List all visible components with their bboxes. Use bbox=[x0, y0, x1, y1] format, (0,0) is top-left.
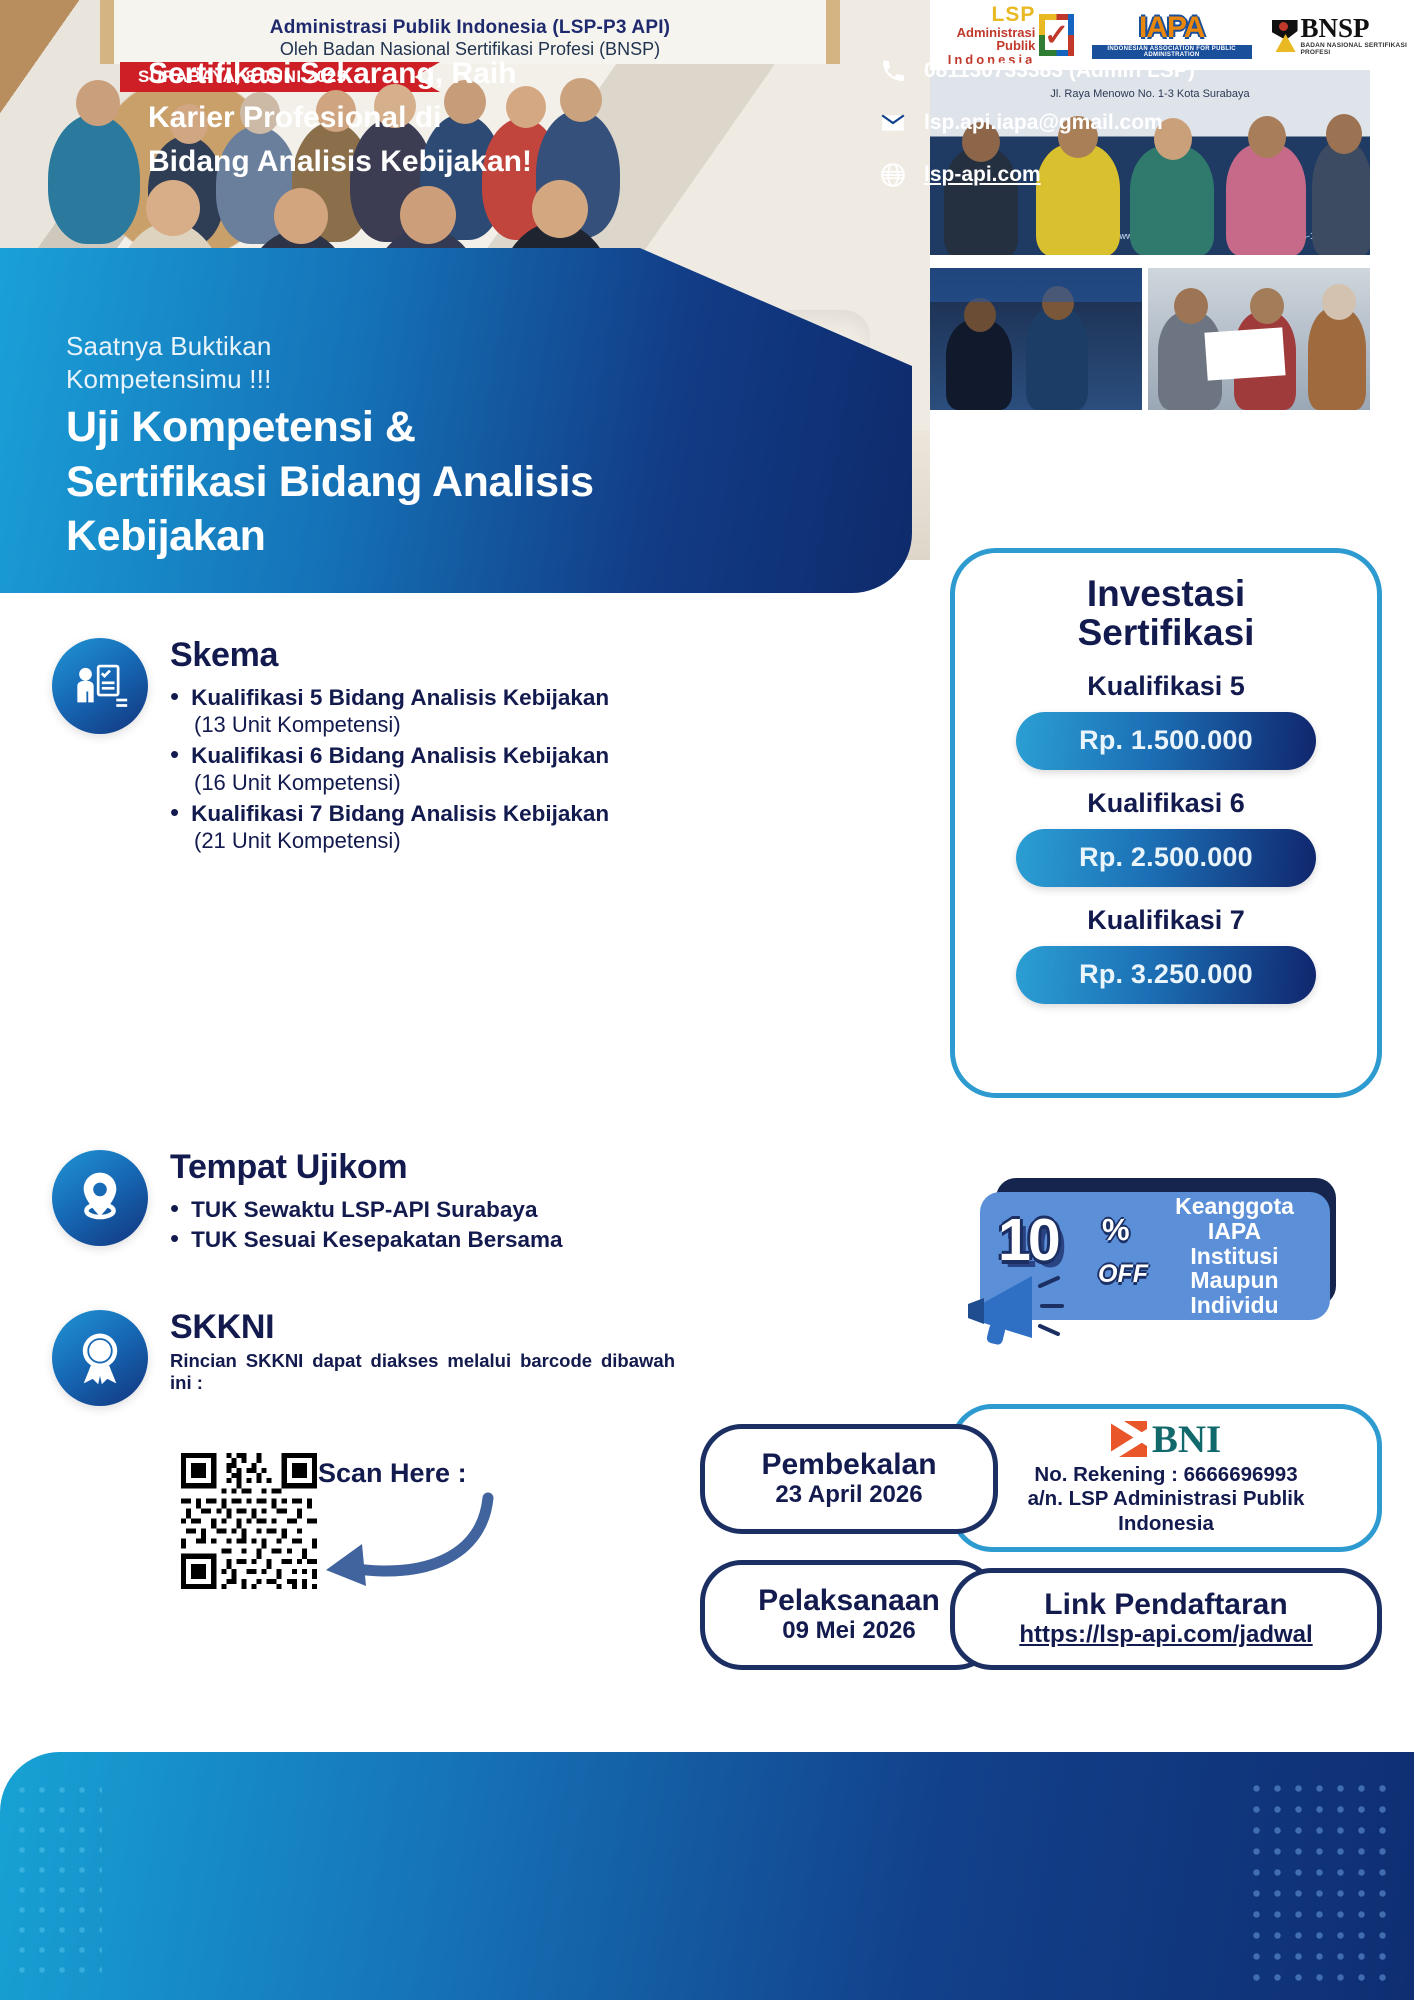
list-item: TUK Sewaktu LSP-API Surabaya bbox=[170, 1196, 563, 1223]
lsp-logo-line2: Administrasi Publik bbox=[936, 26, 1035, 53]
contact-email-row[interactable]: lsp.api.iapa@gmail.com bbox=[880, 110, 1195, 136]
list-item: Kualifikasi 7 Bidang Analisis Kebijakan … bbox=[170, 800, 609, 855]
investasi-card: Investasi Sertifikasi Kualifikasi 5 Rp. … bbox=[950, 548, 1382, 1098]
discount-description: Keanggota IAPA Institusi Maupun Individu bbox=[1152, 1194, 1317, 1317]
bnsp-logo-word: BNSP bbox=[1300, 15, 1414, 42]
list-item: Kualifikasi 6 Bidang Analisis Kebijakan … bbox=[170, 742, 609, 797]
contact-website-row[interactable]: lsp-api.com bbox=[880, 162, 1195, 188]
skema-item-sub: (13 Unit Kompetensi) bbox=[194, 711, 609, 739]
tempat-list: TUK Sewaktu LSP-API Surabaya TUK Sesuai … bbox=[170, 1196, 563, 1254]
investasi-title: Investasi Sertifikasi bbox=[955, 575, 1377, 653]
skema-item-title: Kualifikasi 6 Bidang Analisis Kebijakan bbox=[191, 742, 609, 769]
phone-icon bbox=[880, 58, 906, 84]
section-skkni-heading: SKKNI bbox=[170, 1310, 675, 1346]
investasi-tier-price: Rp. 3.250.000 bbox=[1016, 946, 1316, 1004]
banner-line-1: Administrasi Publik Indonesia (LSP-P3 AP… bbox=[270, 17, 670, 39]
megaphone-icon bbox=[962, 1268, 1072, 1346]
discount-off-label: OFF bbox=[1098, 1260, 1148, 1289]
list-item: TUK Sesuai Kesepakatan Bersama bbox=[170, 1226, 563, 1253]
collage-photo-bottom-right bbox=[1148, 268, 1370, 410]
collage-photo-bottom-left bbox=[930, 268, 1142, 410]
check-icon bbox=[1039, 14, 1073, 56]
skkni-note: Rincian SKKNI dapat diakses melalui barc… bbox=[170, 1350, 675, 1394]
registration-url[interactable]: https://lsp-api.com/jadwal bbox=[1019, 1621, 1312, 1650]
poster-root: Administrasi Publik Indonesia (LSP-P3 AP… bbox=[0, 0, 1414, 2000]
investasi-tier-label: Kualifikasi 6 bbox=[955, 788, 1377, 819]
pelaksanaan-date: 09 Mei 2026 bbox=[782, 1617, 915, 1646]
bank-account-name-1: a/n. LSP Administrasi Publik bbox=[1028, 1487, 1305, 1512]
dot-pattern-right bbox=[1246, 1778, 1396, 1988]
contact-phone-row[interactable]: 081130733383 (Admin LSP) bbox=[880, 58, 1195, 84]
mail-icon bbox=[880, 110, 906, 136]
assessor-checklist-icon bbox=[52, 638, 148, 734]
skema-item-title: Kualifikasi 7 Bidang Analisis Kebijakan bbox=[191, 800, 609, 827]
skema-item-sub: (16 Unit Kompetensi) bbox=[194, 769, 609, 797]
registration-label: Link Pendaftaran bbox=[1044, 1588, 1287, 1622]
award-ribbon-icon bbox=[52, 1310, 148, 1406]
pembekalan-label: Pembekalan bbox=[761, 1448, 936, 1482]
footer-slogan: Sertifikasi Sekarang, Raih Karier Profes… bbox=[148, 52, 668, 183]
iapa-logo: IAPA INDONESIAN ASSOCIATION FOR PUBLIC A… bbox=[1092, 11, 1252, 59]
investasi-tier-label: Kualifikasi 7 bbox=[955, 905, 1377, 936]
qr-code-icon[interactable] bbox=[176, 1448, 322, 1594]
investasi-tier-price: Rp. 1.500.000 bbox=[1016, 712, 1316, 770]
contact-website-text[interactable]: lsp-api.com bbox=[924, 163, 1041, 187]
section-skema-heading: Skema bbox=[170, 638, 609, 674]
skema-item-title: Kualifikasi 5 Bidang Analisis Kebijakan bbox=[191, 684, 609, 711]
globe-icon bbox=[880, 162, 906, 188]
skema-list: Kualifikasi 5 Bidang Analisis Kebijakan … bbox=[170, 684, 609, 855]
pembekalan-date: 23 April 2026 bbox=[775, 1481, 922, 1510]
investasi-tier-price: Rp. 2.500.000 bbox=[1016, 829, 1316, 887]
bni-mark-icon bbox=[1111, 1421, 1147, 1457]
schedule-pembekalan-box: Pembekalan 23 April 2026 bbox=[700, 1424, 998, 1534]
hero-kicker: Saatnya Buktikan Kompetensimu !!! bbox=[66, 330, 626, 397]
bank-account-card: BNI No. Rekening : 6666696993 a/n. LSP A… bbox=[950, 1404, 1382, 1552]
lsp-logo-line1: LSP bbox=[936, 4, 1035, 26]
bnsp-logo-subtitle: BADAN NASIONAL SERTIFIKASI PROFESI bbox=[1300, 42, 1414, 56]
map-pin-icon bbox=[52, 1150, 148, 1246]
section-tempat-ujikom: Tempat Ujikom TUK Sewaktu LSP-API Suraba… bbox=[52, 1150, 563, 1257]
bnsp-logo: BNSP BADAN NASIONAL SERTIFIKASI PROFESI bbox=[1270, 15, 1414, 56]
tempat-item: TUK Sesuai Kesepakatan Bersama bbox=[191, 1226, 562, 1253]
curved-arrow-icon bbox=[306, 1484, 496, 1594]
investasi-tier-label: Kualifikasi 5 bbox=[955, 671, 1377, 702]
section-skkni: SKKNI Rincian SKKNI dapat diakses melalu… bbox=[52, 1310, 675, 1406]
pelaksanaan-label: Pelaksanaan bbox=[758, 1584, 940, 1618]
bank-account-number: No. Rekening : 6666696993 bbox=[1034, 1463, 1297, 1488]
tempat-item: TUK Sewaktu LSP-API Surabaya bbox=[191, 1196, 537, 1223]
footer bbox=[0, 1752, 1414, 2000]
bni-logo-word: BNI bbox=[1152, 1420, 1221, 1459]
contact-phone-text: 081130733383 (Admin LSP) bbox=[924, 59, 1195, 83]
footer-contact-list: 081130733383 (Admin LSP) lsp.api.iapa@gm… bbox=[880, 58, 1195, 214]
bank-account-name-2: Indonesia bbox=[1118, 1512, 1214, 1537]
contact-email-text: lsp.api.iapa@gmail.com bbox=[924, 111, 1163, 135]
garuda-icon bbox=[1270, 18, 1298, 52]
section-skema: Skema Kualifikasi 5 Bidang Analisis Kebi… bbox=[52, 638, 609, 858]
dot-pattern-left bbox=[12, 1780, 102, 1980]
list-item: Kualifikasi 5 Bidang Analisis Kebijakan … bbox=[170, 684, 609, 739]
discount-percent-symbol: % bbox=[1102, 1212, 1130, 1248]
bni-logo: BNI bbox=[1111, 1420, 1221, 1459]
iapa-logo-subtitle: INDONESIAN ASSOCIATION FOR PUBLIC ADMINI… bbox=[1092, 45, 1252, 59]
registration-link-box[interactable]: Link Pendaftaran https://lsp-api.com/jad… bbox=[950, 1568, 1382, 1670]
iapa-logo-word: IAPA bbox=[1092, 11, 1252, 45]
section-tempat-heading: Tempat Ujikom bbox=[170, 1150, 563, 1186]
page-title: Uji Kompetensi & Sertifikasi Bidang Anal… bbox=[66, 400, 886, 564]
skema-item-sub: (21 Unit Kompetensi) bbox=[194, 827, 609, 855]
